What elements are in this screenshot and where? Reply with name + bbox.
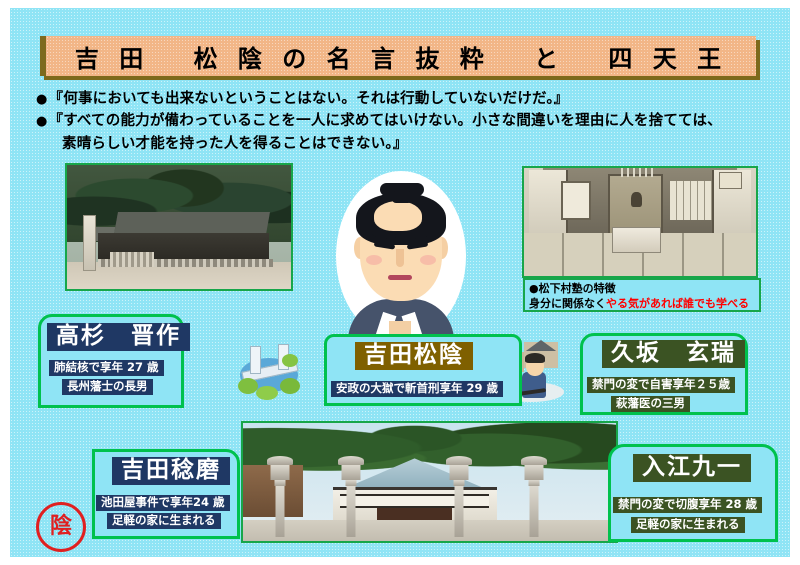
hanko-seal-glyph: 陰	[50, 516, 72, 538]
portrait-forehead	[374, 201, 422, 231]
person-name-shoin: 吉田松陰	[355, 342, 473, 370]
portrait-cheek-right	[420, 255, 436, 265]
interior-hanging-scroll-left	[561, 181, 591, 220]
portrait-mouth	[388, 275, 412, 280]
person-detail-irie-2: 足軽の家に生まれる	[631, 517, 745, 533]
quote-list: ●『何事においても出来ないということはない。それは行動していないだけだ。』 ●『…	[36, 88, 766, 155]
person-card-kusaka-genzui[interactable]: 久坂 玄瑞 禁門の変で自害享年２５歳 萩藩医の三男	[580, 333, 748, 415]
portrait-yoshida-shoin	[330, 171, 472, 357]
photo-shokasonjuku-interior	[522, 166, 758, 278]
person-card-irie-kuichi[interactable]: 入江九一 禁門の変で切腹享年 28 歳 足軽の家に生まれる	[608, 444, 778, 542]
photo-stone-monument	[83, 215, 96, 272]
person-detail-takasugi-1: 肺結核で享年 27 歳	[49, 360, 164, 376]
bridge-tower-left	[250, 346, 261, 374]
photo-shokasonjuku-building	[65, 163, 293, 291]
bridge-foliage-1	[238, 378, 258, 394]
person-name-irie: 入江九一	[633, 454, 751, 482]
stone-lantern	[519, 456, 549, 529]
photo-roof-main	[114, 212, 270, 234]
person-detail-toshimaro-1: 池田屋事件で享年24 歳	[96, 495, 230, 511]
quote-text-2b: 素晴らしい才能を持った人を得ることはできない。』	[36, 133, 766, 155]
bullet-icon: ●	[36, 114, 48, 129]
person-detail-takasugi-2: 長州藩士の長男	[62, 379, 153, 395]
shrine-ground	[243, 520, 616, 541]
note-body-highlight: やる気があれば誰でも学べる	[606, 297, 749, 310]
quote-item-1: ●『何事においても出来ないということはない。それは行動していないだけだ。』	[36, 88, 766, 110]
person-card-yoshida-shoin[interactable]: 吉田松陰 安政の大獄で斬首刑享年 29 歳	[324, 334, 522, 406]
person-detail-irie-1: 禁門の変で切腹享年 28 歳	[613, 497, 762, 513]
interior-wall-placard	[719, 172, 742, 189]
page-title: 吉 田 松 陰 の 名 言 抜 粋 と 四 天 王	[75, 39, 727, 74]
bridge-foliage-4	[282, 354, 298, 367]
person-card-yoshida-toshimaro[interactable]: 吉田稔磨 池田屋事件で享年24 歳 足軽の家に生まれる	[92, 449, 240, 539]
note-heading: ●松下村塾の特徴	[529, 281, 755, 296]
poster-canvas: 吉 田 松 陰 の 名 言 抜 粋 と 四 天 王 ●『何事においても出来ないと…	[10, 8, 790, 557]
bridge-foliage-2	[256, 386, 278, 400]
person-name-takasugi: 高杉 晋作	[47, 323, 190, 351]
shokasonjuku-feature-note: ●松下村塾の特徴 身分に関係なくやる気があれば誰でも学べる	[523, 278, 761, 312]
photo-shoin-shrine	[241, 421, 618, 543]
portrait-chonmage-base	[392, 191, 412, 203]
title-banner: 吉 田 松 陰 の 名 言 抜 粋 と 四 天 王	[40, 36, 760, 80]
title-banner-bar: 吉 田 松 陰 の 名 言 抜 粋 と 四 天 王	[40, 36, 756, 76]
portrait-cheek-left	[366, 255, 382, 265]
quote-text-2a: 『すべての能力が備わっていることを一人に求めてはいけない。小さな間違いを理由に人…	[49, 113, 722, 129]
bullet-icon: ●	[36, 92, 48, 107]
interior-shoji-screen	[670, 181, 712, 220]
person-card-takasugi-shinsaku[interactable]: 高杉 晋作 肺結核で享年 27 歳 長州藩士の長男	[38, 314, 184, 408]
stone-lantern	[265, 456, 295, 529]
person-detail-toshimaro-2: 足軽の家に生まれる	[107, 513, 221, 529]
interior-hanging-ornaments	[617, 168, 654, 177]
portrait-nose	[396, 249, 404, 267]
interior-scroll-figure	[631, 192, 643, 207]
stone-lantern	[336, 456, 366, 529]
bridge-foliage-3	[280, 378, 300, 394]
person-name-kusaka: 久坂 玄瑞	[602, 340, 745, 368]
person-detail-shoin-1: 安政の大獄で斬首刑享年 29 歳	[331, 381, 503, 397]
kintai-bridge-icon	[238, 344, 300, 402]
interior-display-case	[612, 227, 660, 253]
samurai-hair	[525, 353, 545, 363]
note-body-plain: 身分に関係なく	[529, 297, 606, 310]
person-name-toshimaro: 吉田稔磨	[112, 457, 230, 485]
note-body: 身分に関係なくやる気があれば誰でも学べる	[529, 296, 755, 311]
person-detail-kusaka-2: 萩藩医の三男	[611, 396, 690, 412]
quote-item-2: ●『すべての能力が備わっていることを一人に求めてはいけない。小さな間違いを理由に…	[36, 110, 766, 155]
stone-lantern	[444, 456, 474, 529]
quote-text-1: 『何事においても出来ないということはない。それは行動していないだけだ。』	[49, 91, 569, 107]
photo-fence	[110, 252, 155, 267]
hanko-seal-icon: 陰	[36, 502, 86, 552]
person-detail-kusaka-1: 禁門の変で自害享年２５歳	[587, 377, 735, 393]
